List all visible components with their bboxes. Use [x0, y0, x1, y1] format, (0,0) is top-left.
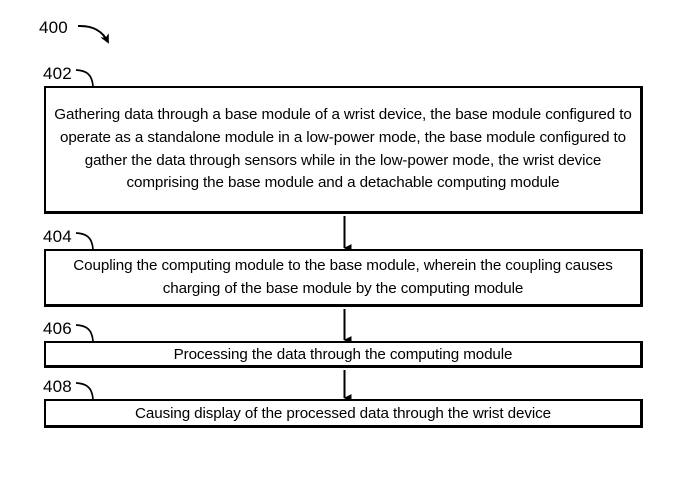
step-reference-number-408: 408	[43, 377, 72, 396]
process-step-box-404: Coupling the computing module to the bas…	[44, 249, 643, 307]
step-reference-number-404: 404	[43, 227, 72, 246]
leader-line-408	[76, 383, 93, 399]
process-step-text-406: Processing the data through the computin…	[46, 344, 640, 365]
process-step-box-408: Causing display of the processed data th…	[44, 399, 643, 428]
leader-line-406	[76, 325, 93, 341]
process-step-text-402: Gathering data through a base module of …	[46, 104, 640, 194]
leader-line-402	[76, 70, 93, 86]
process-step-text-404: Coupling the computing module to the bas…	[46, 255, 640, 300]
step-reference-number-402: 402	[43, 64, 72, 83]
process-step-box-402: Gathering data through a base module of …	[44, 86, 643, 214]
figure-reference-number: 400	[39, 18, 68, 37]
leader-line-404	[76, 233, 93, 249]
process-step-box-406: Processing the data through the computin…	[44, 341, 643, 368]
figure-leader-arrow	[78, 26, 108, 42]
step-reference-number-406: 406	[43, 319, 72, 338]
patent-flowchart-figure: 400 402 404 406 408 Gathering data throu…	[0, 0, 700, 495]
process-step-text-408: Causing display of the processed data th…	[46, 403, 640, 424]
